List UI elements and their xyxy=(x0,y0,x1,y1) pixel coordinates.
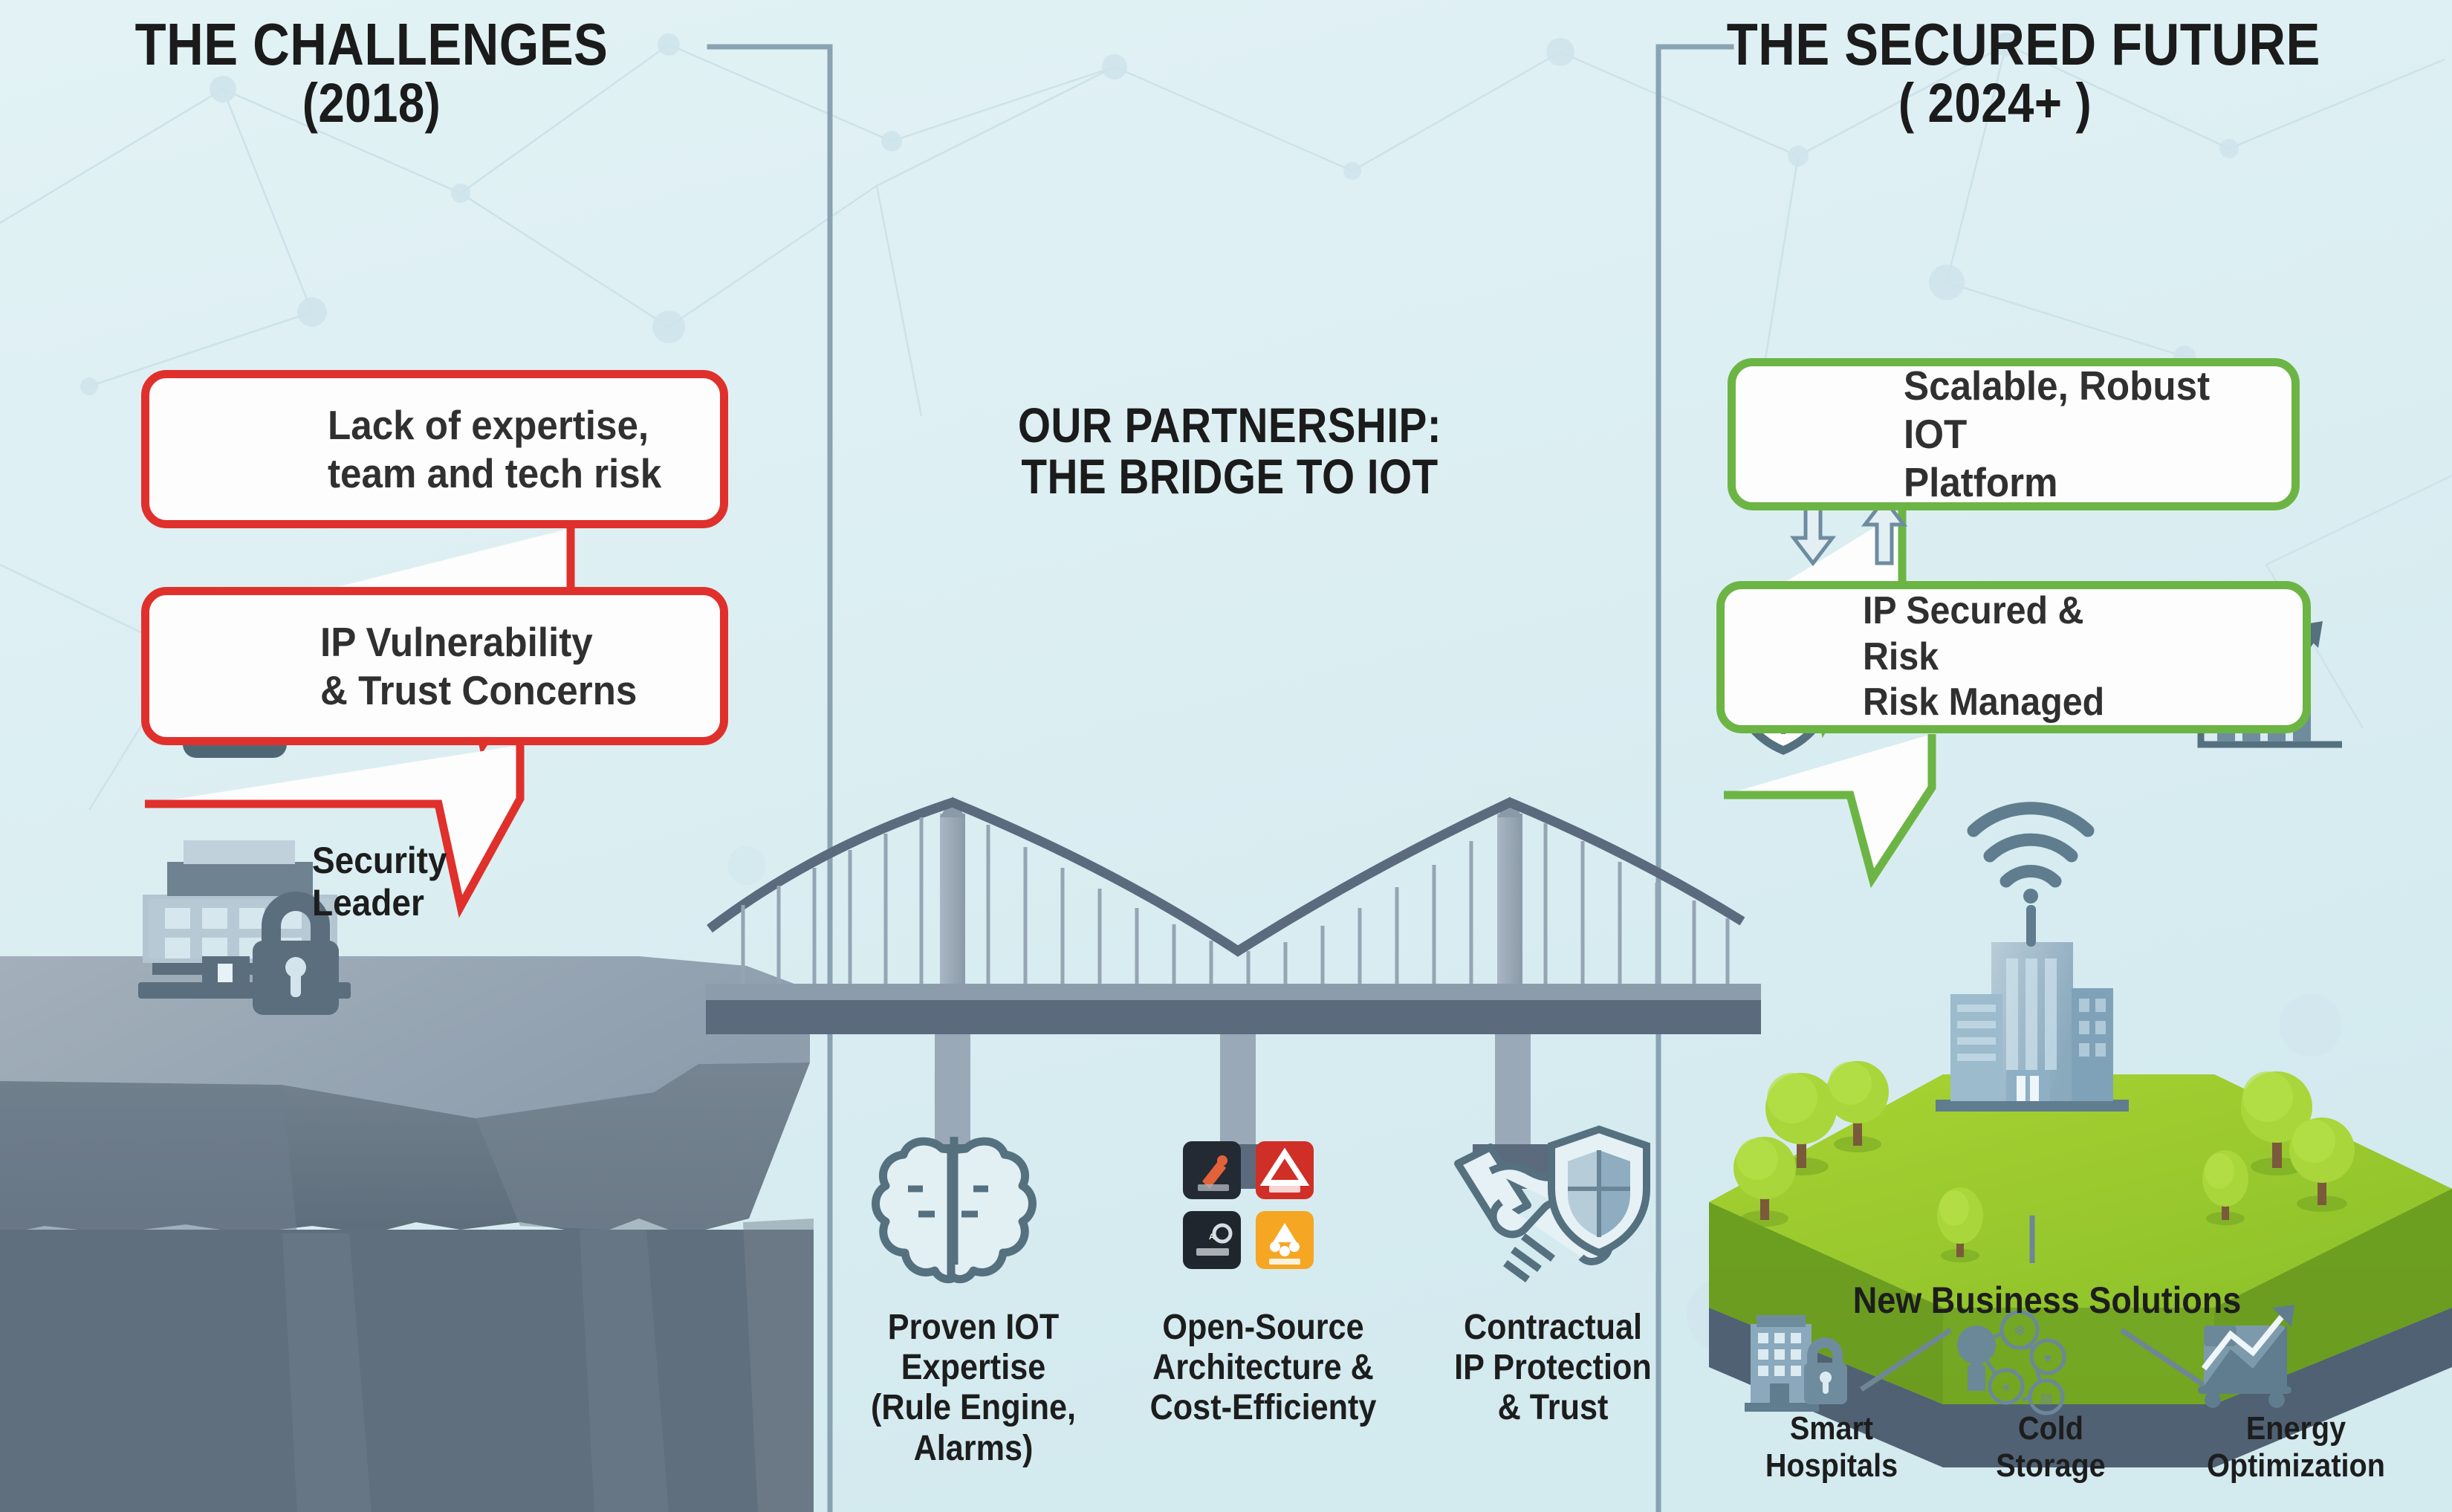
heading-future-line2: ( 2024+ ) xyxy=(1727,75,2263,132)
solution-label-smart-hospitals: Smart Hospitals xyxy=(1722,1410,1942,1484)
heading-future-line1: THE SECURED FUTURE xyxy=(1727,13,2263,75)
pillar-caption-open-source: Open-Source Architecture & Cost-Efficien… xyxy=(1133,1308,1394,1429)
solution-label-energy-optimization: Energy Optimization xyxy=(2156,1410,2436,1484)
heading-partnership-line2: THE BRIDGE TO IOT xyxy=(974,451,1485,502)
heading-challenges-line1: THE CHALLENGES xyxy=(129,13,614,75)
heading-challenges: THE CHALLENGES (2018) xyxy=(129,13,614,132)
infographic-canvas: A xyxy=(0,0,2452,1512)
solutions-title: New Business Solutions xyxy=(1806,1279,2288,1322)
security-leader-label: Security Leader xyxy=(312,840,538,924)
pillar-caption-contractual: Contractual IP Protection & Trust xyxy=(1433,1308,1673,1429)
heading-partnership-line1: OUR PARTNERSHIP: xyxy=(974,400,1485,451)
solution-label-cold-storage: Cold Storage xyxy=(1944,1410,2158,1484)
future-bubble-platform[interactable]: Scalable, Robust IOT Platform xyxy=(1728,358,2300,510)
heading-challenges-line2: (2018) xyxy=(129,75,614,132)
future-bubble-risk-text: IP Secured & Risk Risk Managed xyxy=(1863,588,2124,725)
challenge-bubble-expertise-text: Lack of expertise, team and tech risk xyxy=(328,401,661,498)
challenge-bubble-ip-vulnerability[interactable]: IP Vulnerability & Trust Concerns xyxy=(141,587,728,745)
pillar-caption-expertise: Proven IOT Expertise (Rule Engine, Alarm… xyxy=(853,1308,1094,1469)
heading-partnership: OUR PARTNERSHIP: THE BRIDGE TO IOT xyxy=(974,400,1485,502)
heading-secured-future: THE SECURED FUTURE ( 2024+ ) xyxy=(1727,13,2263,132)
future-bubble-platform-text: Scalable, Robust IOT Platform xyxy=(1904,362,2251,507)
challenge-bubble-expertise[interactable]: Lack of expertise, team and tech risk xyxy=(141,370,728,528)
future-bubble-risk[interactable]: IP Secured & Risk Risk Managed xyxy=(1716,581,2311,733)
challenge-bubble-ip-text: IP Vulnerability & Trust Concerns xyxy=(320,618,637,715)
cliff-left xyxy=(0,956,814,1512)
